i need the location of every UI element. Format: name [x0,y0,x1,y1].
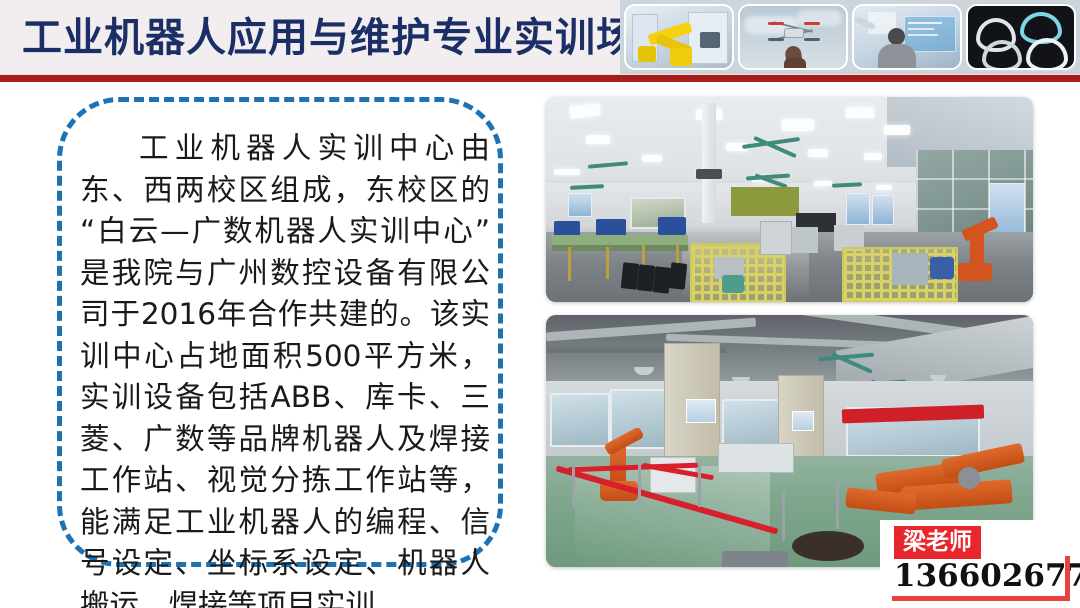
page-title: 工业机器人应用与维护专业实训场 [22,9,637,67]
industrial-robot-cell-thumbnail [626,6,732,68]
drone-thumbnail [740,6,846,68]
slide-header: 工业机器人应用与维护专业实训场 [0,0,1080,80]
contact-rightbar-accent [1065,556,1070,601]
header-divider-rule [0,74,1080,82]
header-thumbnail-strip [620,0,1080,74]
slide-root: 工业机器人应用与维护专业实训场 工业机器 [0,0,1080,608]
description-paragraph: 工业机器人实训中心由东、西两校区组成，东校区的“白云—广数机器人实训中心”是我院… [80,128,490,608]
training-workshop-photo-top [546,97,1033,302]
smart-manufacturing-hmi-thumbnail [854,6,960,68]
contact-underline-accent [892,596,1070,601]
dental-aligner-thumbnail [968,6,1074,68]
contact-name-badge: 梁老师 [894,526,981,559]
contact-phone-number: 13660267768 [894,558,1064,594]
contact-block: 梁老师 13660267768 [880,520,1080,608]
